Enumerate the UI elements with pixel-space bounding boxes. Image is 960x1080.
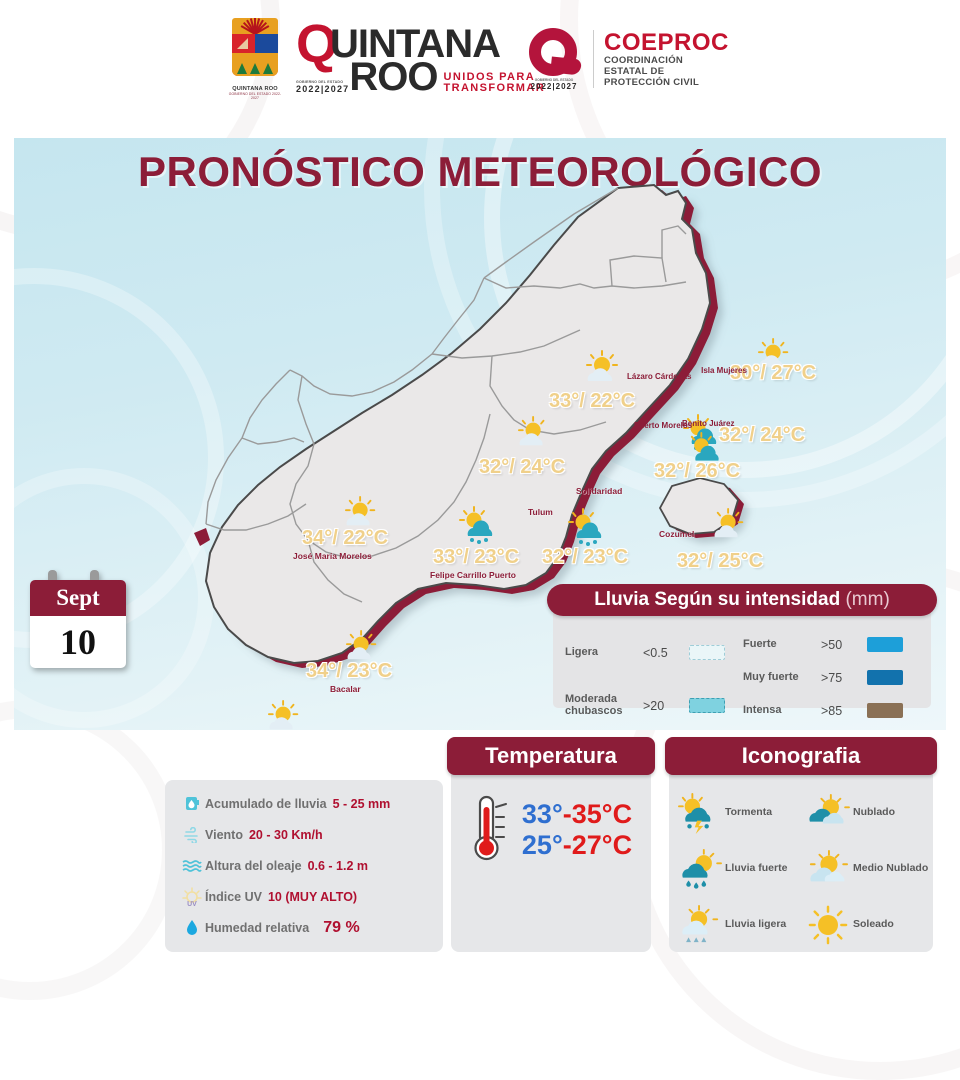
- calendar-day-body: 10: [30, 616, 126, 668]
- temp-label-puerto-morelos: 32°/ 26°C: [654, 460, 740, 483]
- coeproc-line-1: COORDINACIÓN: [604, 55, 729, 66]
- coeproc-line-3: PROTECCIÓN CIVIL: [604, 77, 729, 88]
- iconography-panel-title: Iconografia: [665, 737, 937, 775]
- temp-high: 35°C: [572, 799, 632, 829]
- header-logos-bar: ★ QUINTANA ROO GOBIERNO DEL ESTADO 2022-…: [0, 0, 960, 136]
- coeproc-acronym: COEPROC: [604, 31, 729, 55]
- wordmark-roo: ROO: [349, 60, 437, 94]
- rain-legend-row: Intensa >85: [743, 694, 921, 727]
- rain-legend-row: Moderada chubascos >20: [565, 689, 743, 722]
- shield-subtitle: GOBIERNO DEL ESTADO 2022-2027: [228, 92, 282, 100]
- iconography-panel: Iconografia Tormenta: [665, 737, 937, 952]
- rain-value: >85: [821, 704, 867, 718]
- temperature-panel-title: Temperatura: [447, 737, 655, 775]
- iconography-item-medio-nublado: Medio Nublado: [803, 841, 931, 897]
- waves-icon: [179, 859, 205, 873]
- iconography-item-soleado: Soleado: [803, 897, 931, 953]
- svg-text:UV: UV: [187, 901, 197, 907]
- muni-label-bacalar: Bacalar: [330, 684, 361, 694]
- coeproc-logo: GOBIERNO DEL ESTADO 2022|2027 COEPROC CO…: [525, 28, 729, 90]
- rain-name: Moderada chubascos: [565, 694, 643, 717]
- rain-legend-row: Muy fuerte >75: [743, 661, 921, 694]
- rain-value: <0.5: [643, 646, 689, 660]
- rain-legend-title-bar: Lluvia Según su intensidad (mm): [547, 584, 937, 616]
- rain-name: Muy fuerte: [743, 672, 821, 684]
- rain-name: Intensa: [743, 705, 821, 717]
- rain-value: >20: [643, 699, 689, 713]
- info-row-uv-index: UV Índice UV 10 (MUY ALTO): [165, 881, 443, 912]
- weather-icon-partly-cloudy: [264, 700, 306, 730]
- info-value: 5 - 25 mm: [333, 797, 391, 811]
- info-value: 20 - 30 Km/h: [249, 828, 323, 842]
- background-watermark: [0, 700, 180, 1000]
- iconography-label: Medio Nublado: [853, 863, 928, 875]
- temp-label-bacalar: 34°/ 23°C: [306, 660, 392, 683]
- iconography-item-tormenta: Tormenta: [675, 785, 803, 841]
- calendar-day: 10: [30, 616, 126, 668]
- temp-label-felipe-carrillo-puerto: 33°/ 23°C: [433, 546, 519, 569]
- temp-label-cozumel: 32°/ 25°C: [677, 550, 763, 573]
- sunny-icon: [803, 905, 853, 945]
- muni-label-cozumel: Cozumel: [659, 529, 694, 539]
- rain-value: >50: [821, 638, 867, 652]
- temp-low: 33°: [522, 799, 563, 829]
- info-row-wave-height: Altura del oleaje 0.6 - 1.2 m: [165, 850, 443, 881]
- rain-swatch-intensa: [867, 703, 903, 718]
- muni-label-lazaro-cardenas: Lázaro Cárdenas: [627, 372, 687, 382]
- iconography-label: Tormenta: [725, 807, 772, 819]
- coeproc-years: 2022|2027: [525, 82, 583, 91]
- cloudy-icon: [803, 793, 853, 833]
- temp-sep: -: [563, 830, 572, 860]
- calendar-widget: Sept 10: [24, 570, 132, 672]
- wordmark-years-num: 2022|2027: [296, 84, 349, 94]
- rain-legend-column-right: Fuerte >50 Muy fuerte >75 Intensa >85: [743, 628, 921, 727]
- info-value: 0.6 - 1.2 m: [308, 859, 368, 873]
- temp-low: 25°: [522, 830, 563, 860]
- muni-label-felipe-carrillo-puerto: Felipe Carrillo Puerto: [430, 570, 516, 580]
- weather-icon-partly-cloudy: [582, 350, 626, 391]
- quintana-roo-wordmark: Q UINTANA GOBIERNO DEL ESTADO 2022|2027 …: [296, 20, 511, 98]
- iconography-item-lluvia-fuerte: Lluvia fuerte: [675, 841, 803, 897]
- muni-label-puerto-morelos: Puerto Morelos: [634, 421, 688, 431]
- info-label: Acumulado de lluvia: [205, 797, 327, 811]
- rain-legend-row: Fuerte >50: [743, 628, 921, 661]
- weather-icon-partly-cloudy: [709, 508, 751, 547]
- coeproc-text: COEPROC COORDINACIÓN ESTATAL DE PROTECCI…: [604, 31, 729, 88]
- humidity-drop-icon: [179, 919, 205, 937]
- iconography-item-lluvia-ligera: Lluvia ligera: [675, 897, 803, 953]
- weather-icon-partly-cloudy: [514, 416, 556, 455]
- rain-swatch-muy-fuerte: [867, 670, 903, 685]
- rain-name: Ligera: [565, 647, 643, 659]
- rain-gauge-icon: [179, 795, 205, 813]
- rain-legend-row: Ligera <0.5: [565, 636, 743, 669]
- info-value: 10 (MUY ALTO): [268, 890, 357, 904]
- temp-label-jose-maria-morelos: 34°/ 22°C: [302, 527, 388, 550]
- temp-label-solidaridad: 32°/ 24°C: [479, 456, 565, 479]
- partly-cloudy-icon: [803, 849, 853, 889]
- iconography-item-nublado: Nublado: [803, 785, 931, 841]
- rain-swatch-moderada: [689, 698, 725, 713]
- temperature-range-night: 25°-27°C: [522, 830, 632, 861]
- info-label: Humedad relativa: [205, 921, 309, 935]
- rain-legend-column-left: Ligera <0.5 Moderada chubascos >20: [565, 628, 743, 727]
- calendar-month-header: Sept: [30, 580, 126, 616]
- info-label: Viento: [205, 828, 243, 842]
- muni-label-tulum: Tulum: [528, 507, 553, 517]
- logo-divider: [593, 30, 594, 88]
- calendar-month: Sept: [30, 580, 126, 616]
- info-label: Altura del oleaje: [205, 859, 302, 873]
- coeproc-q-mark-icon: GOBIERNO DEL ESTADO 2022|2027: [525, 28, 583, 90]
- temperature-values: 33°-35°C 25°-27°C: [522, 799, 632, 861]
- thermometer-icon: [470, 793, 514, 867]
- rain-value: >75: [821, 671, 867, 685]
- heavy-rain-icon: [675, 848, 725, 890]
- temp-label-tulum: 32°/ 23°C: [542, 546, 628, 569]
- rain-legend-title: Lluvia Según su intensidad: [594, 589, 840, 610]
- logo-group: ★ QUINTANA ROO GOBIERNO DEL ESTADO 2022-…: [228, 18, 729, 100]
- light-rain-icon: [675, 904, 725, 946]
- temperature-panel: Temperatura 33°-35°C 25°-27°C: [447, 737, 655, 952]
- info-value: 79 %: [323, 919, 359, 937]
- storm-icon: [675, 792, 725, 834]
- rain-intensity-legend: Lluvia Según su intensidad (mm) Ligera <…: [547, 584, 937, 708]
- iconography-label: Lluvia fuerte: [725, 863, 787, 875]
- temperature-range-day: 33°-35°C: [522, 799, 632, 830]
- temperature-content: 33°-35°C 25°-27°C: [447, 793, 655, 867]
- wind-icon: [179, 827, 205, 843]
- temp-high: 27°C: [572, 830, 632, 860]
- muni-label-isla-mujeres: Isla Mujeres: [701, 366, 747, 376]
- rain-legend-grid: Ligera <0.5 Moderada chubascos >20 Fuert…: [565, 628, 921, 727]
- quintana-roo-coat-of-arms-icon: ★ QUINTANA ROO GOBIERNO DEL ESTADO 2022-…: [228, 18, 282, 100]
- info-row-rain-accumulation: Acumulado de lluvia 5 - 25 mm: [165, 788, 443, 819]
- rain-legend-unit: (mm): [845, 589, 889, 610]
- rain-swatch-fuerte: [867, 637, 903, 652]
- info-row-wind: Viento 20 - 30 Km/h: [165, 819, 443, 850]
- iconography-grid: Tormenta Nublado: [675, 785, 931, 953]
- muni-label-jose-maria-morelos: José María Morelos: [293, 551, 372, 561]
- coeproc-line-2: ESTATAL DE: [604, 66, 729, 77]
- temp-sep: -: [563, 799, 572, 829]
- rain-swatch-ligera: [689, 645, 725, 660]
- wordmark-years: GOBIERNO DEL ESTADO 2022|2027: [296, 80, 349, 94]
- temp-label-lazaro-cardenas: 33°/ 22°C: [549, 390, 635, 413]
- iconography-label: Soleado: [853, 919, 894, 931]
- uv-sun-icon: UV: [179, 887, 205, 907]
- conditions-info-panel: Acumulado de lluvia 5 - 25 mm Viento 20 …: [165, 780, 443, 952]
- info-row-humidity: Humedad relativa 79 %: [165, 912, 443, 943]
- iconography-label: Nublado: [853, 807, 895, 819]
- iconography-label: Lluvia ligera: [725, 919, 786, 931]
- rain-name: Fuerte: [743, 639, 821, 651]
- info-label: Índice UV: [205, 890, 262, 904]
- muni-label-solidaridad: Solidaridad: [576, 486, 622, 496]
